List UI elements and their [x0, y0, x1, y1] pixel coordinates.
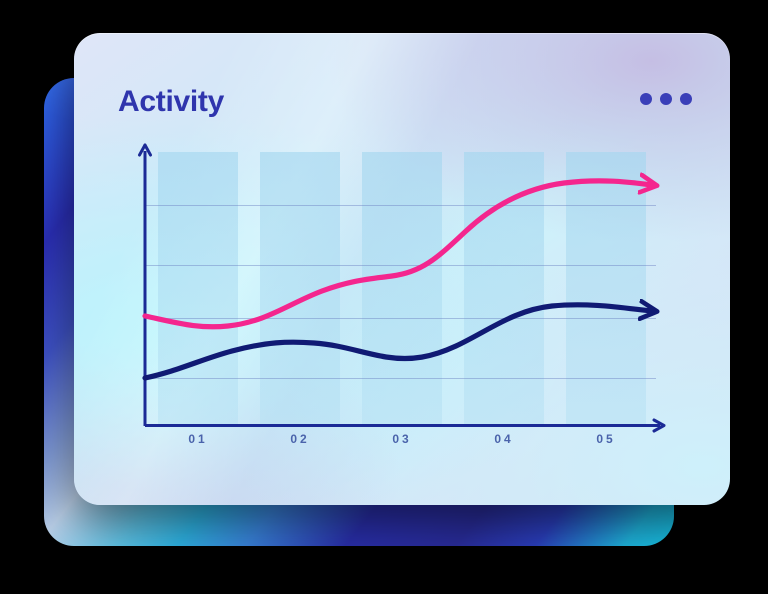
x-tick-label-2: 02: [265, 432, 335, 446]
x-tick-label-5: 05: [571, 432, 641, 446]
activity-chart: 01 02 03 04 05: [74, 33, 730, 505]
x-axis-tick-labels: 01 02 03 04 05: [74, 33, 730, 505]
x-tick-label-3: 03: [367, 432, 437, 446]
x-tick-label-4: 04: [469, 432, 539, 446]
screenshot-stage: Activity: [0, 0, 768, 594]
x-tick-label-1: 01: [163, 432, 233, 446]
activity-card: Activity: [74, 33, 730, 505]
